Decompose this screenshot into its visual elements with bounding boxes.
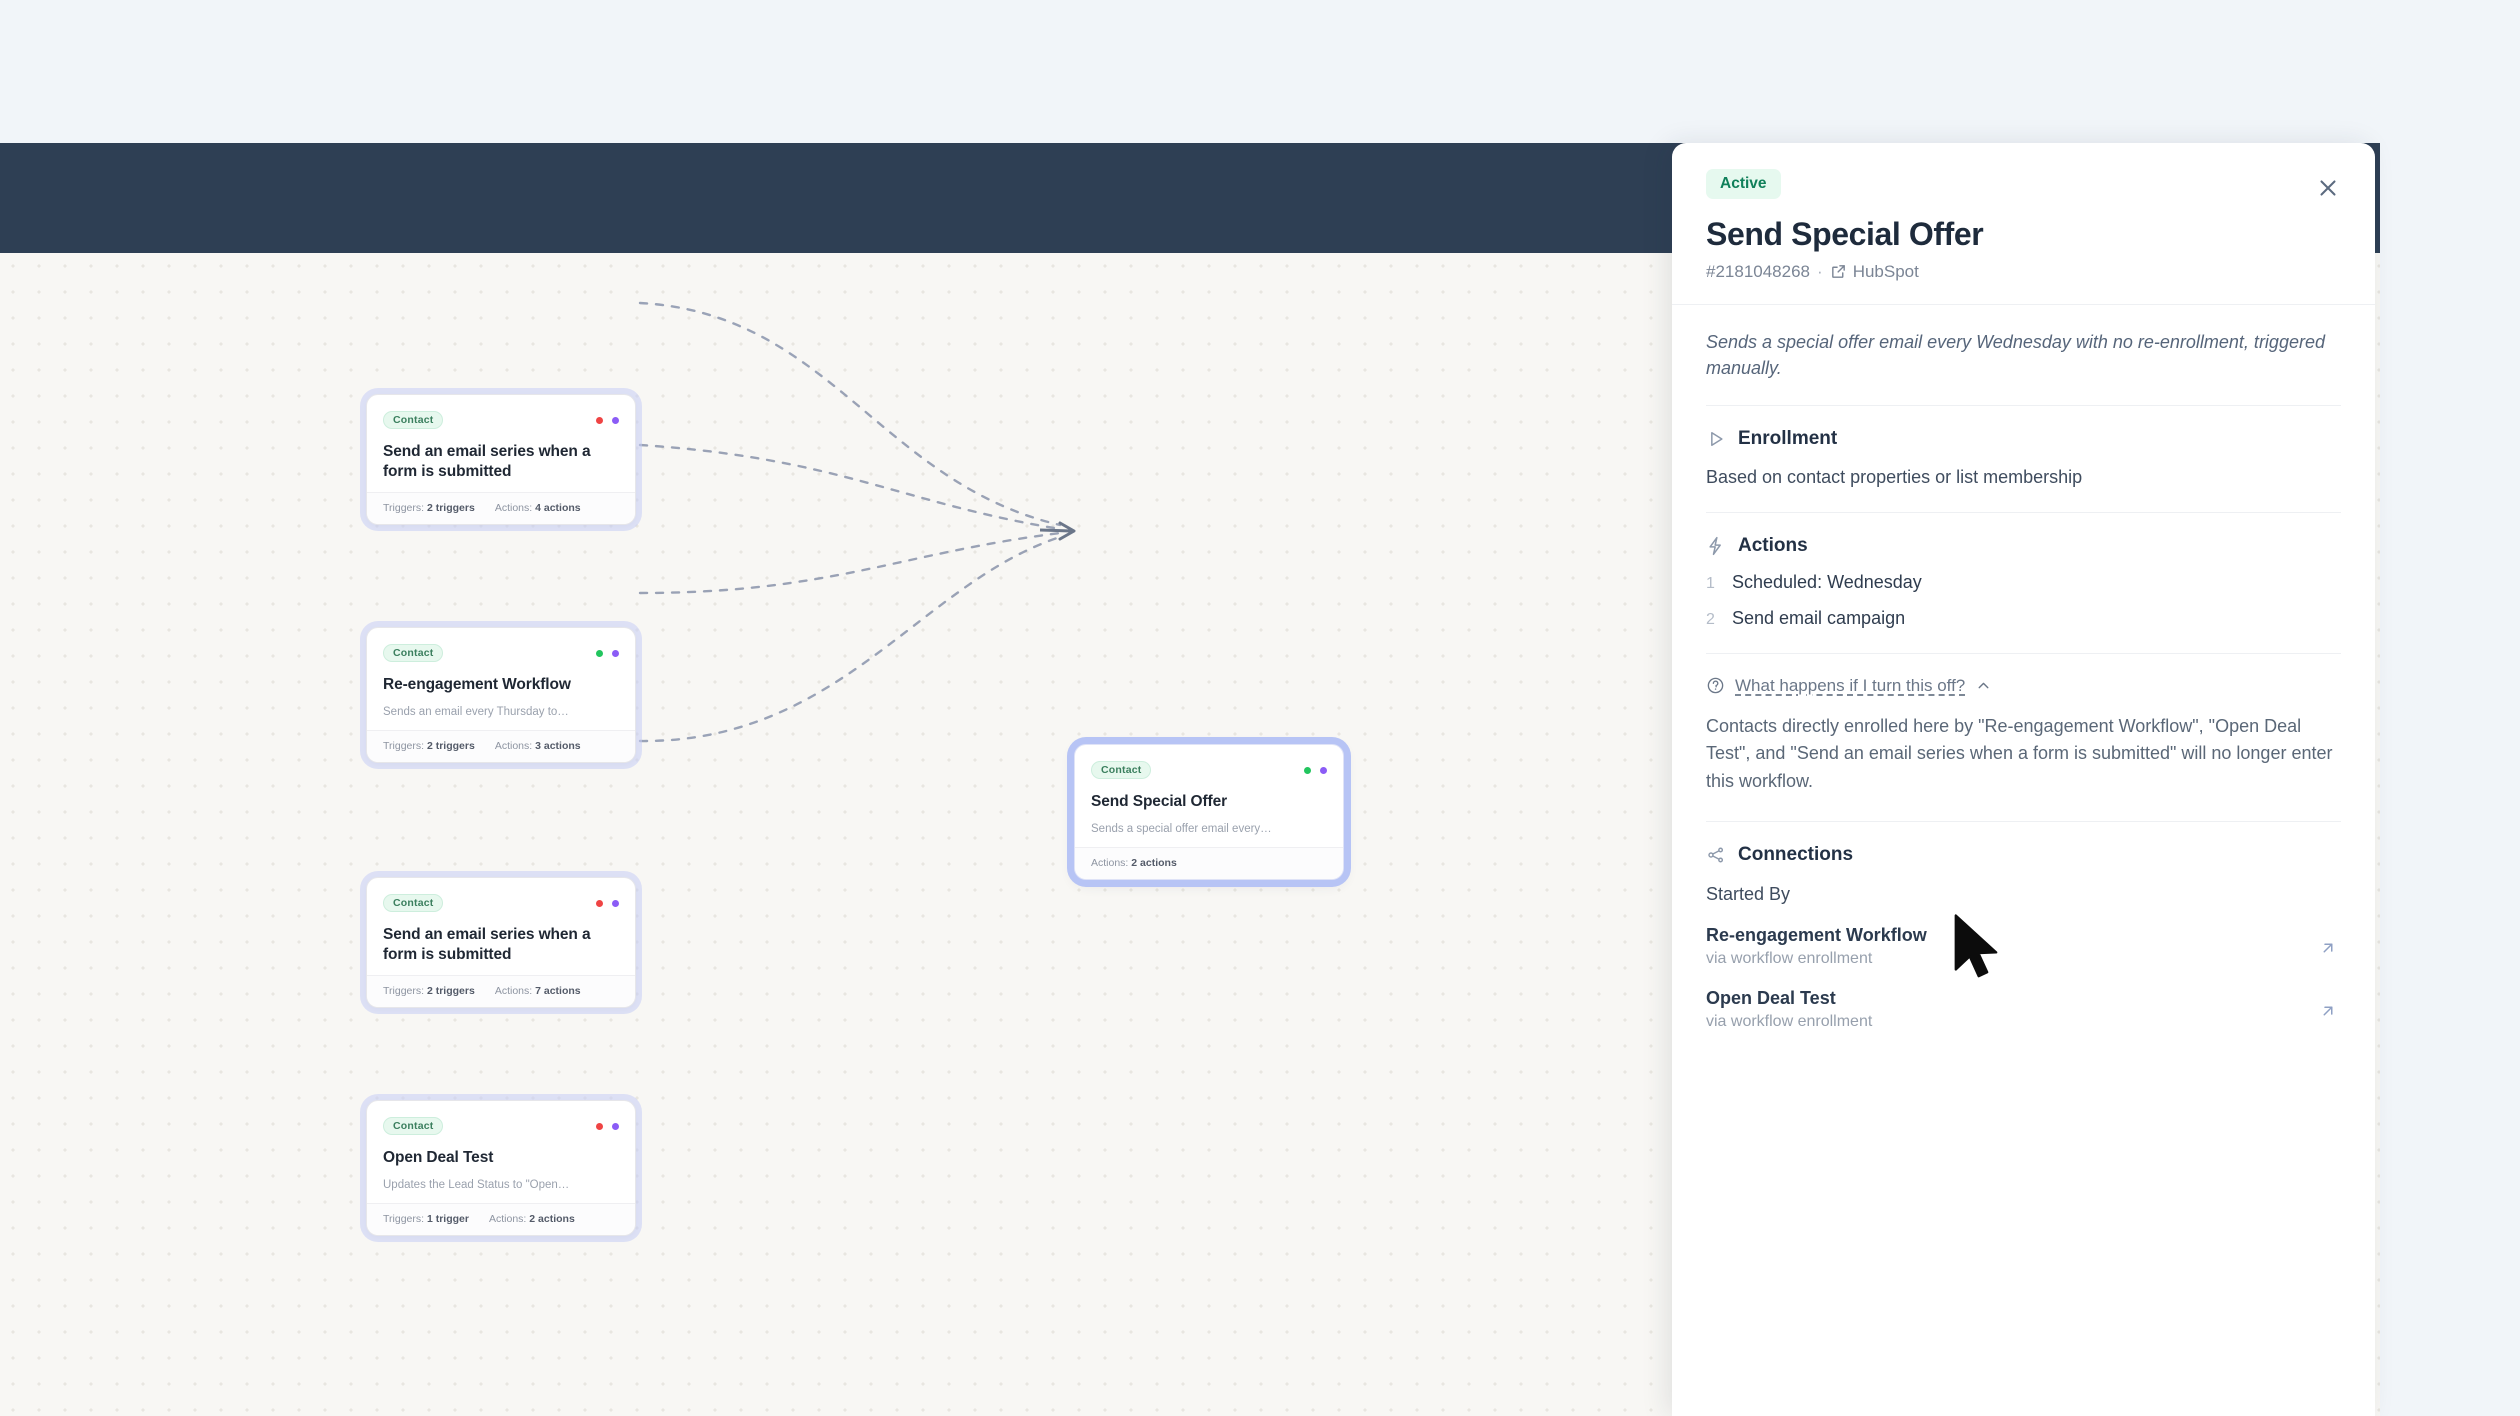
status-dot	[1304, 767, 1311, 774]
workflow-card[interactable]: Contact Open Deal Test Updates the Lead …	[366, 1100, 636, 1236]
card-top-row: Contact	[383, 642, 619, 664]
source-link[interactable]: HubSpot	[1830, 262, 1919, 282]
workflow-card[interactable]: Contact Send an email series when a form…	[366, 394, 636, 525]
workflow-card[interactable]: Contact Re-engagement Workflow Sends an …	[366, 627, 636, 763]
play-triangle-icon	[1706, 429, 1726, 449]
lightning-bolt-icon	[1706, 536, 1726, 556]
card-top-row: Contact	[383, 892, 619, 914]
card-triggers-value: 2 triggers	[427, 985, 475, 997]
connection-via: via workflow enrollment	[1706, 950, 2301, 968]
page-background-right	[2380, 143, 2520, 1416]
action-item: 2 Send email campaign	[1706, 608, 2341, 629]
close-icon[interactable]	[2311, 171, 2345, 205]
card-footer: Triggers: 2 triggers Actions: 7 actions	[367, 975, 635, 1007]
card-status-dots	[596, 1123, 619, 1130]
panel-body: Sends a special offer email every Wednes…	[1672, 305, 2375, 1031]
object-type-badge: Contact	[383, 1117, 443, 1135]
status-dot	[1320, 767, 1327, 774]
card-title: Open Deal Test	[383, 1148, 619, 1168]
card-status-dots	[1304, 767, 1327, 774]
workflow-detail-panel: Active Send Special Offer #2181048268 · …	[1672, 143, 2375, 1416]
enrollment-text: Based on contact properties or list memb…	[1706, 465, 2341, 490]
action-number: 2	[1706, 611, 1716, 629]
status-dot	[596, 650, 603, 657]
action-label: Scheduled: Wednesday	[1732, 572, 1922, 593]
spacer	[1706, 490, 2341, 512]
card-description: Sends a special offer email every…	[1091, 822, 1327, 837]
card-top-row: Contact	[383, 409, 619, 431]
card-description: Updates the Lead Status to "Open…	[383, 1178, 619, 1193]
started-by-label: Started By	[1706, 884, 2341, 905]
status-dot	[596, 900, 603, 907]
card-actions-label: Actions:	[495, 985, 532, 997]
enrollment-header: Enrollment	[1706, 428, 2341, 450]
status-dot	[612, 417, 619, 424]
help-circle-icon	[1706, 676, 1725, 695]
status-dot	[612, 1123, 619, 1130]
share-nodes-icon	[1706, 845, 1726, 865]
object-type-badge: Contact	[383, 411, 443, 429]
connections-section: Connections Started By Re-engagement Wor…	[1706, 822, 2341, 1031]
faq-section: What happens if I turn this off? Contact…	[1706, 654, 2341, 795]
card-actions-value: 2 actions	[529, 1213, 575, 1225]
workflow-card-selected[interactable]: Contact Send Special Offer Sends a speci…	[1074, 744, 1344, 880]
panel-subtitle: #2181048268 · HubSpot	[1706, 262, 2341, 282]
status-dot	[612, 650, 619, 657]
faq-answer: Contacts directly enrolled here by "Re-e…	[1706, 713, 2341, 795]
card-top-row: Contact	[1091, 759, 1327, 781]
enrollment-section: Enrollment Based on contact properties o…	[1706, 406, 2341, 490]
action-label: Send email campaign	[1732, 608, 1905, 629]
status-badge: Active	[1706, 169, 1781, 199]
page-title: Send Special Offer	[1706, 216, 2341, 253]
arrow-up-right-icon	[2319, 1002, 2337, 1025]
faq-question: What happens if I turn this off?	[1735, 676, 1965, 696]
card-triggers-value: 2 triggers	[427, 502, 475, 514]
app-root: Contact Send an email series when a form…	[0, 0, 2520, 1416]
card-actions-value: 7 actions	[535, 985, 581, 997]
connection-name: Open Deal Test	[1706, 988, 2301, 1009]
enrollment-title: Enrollment	[1738, 428, 1837, 450]
card-triggers-value: 1 trigger	[427, 1213, 469, 1225]
card-body: Contact Send an email series when a form…	[367, 395, 635, 492]
connection-item[interactable]: Open Deal Test via workflow enrollment	[1706, 988, 2341, 1031]
action-number: 1	[1706, 575, 1716, 593]
spacer	[1706, 629, 2341, 653]
actions-header: Actions	[1706, 535, 2341, 557]
connection-item[interactable]: Re-engagement Workflow via workflow enro…	[1706, 925, 2341, 968]
page-background-top	[0, 0, 2520, 143]
card-status-dots	[596, 650, 619, 657]
card-body: Contact Re-engagement Workflow Sends an …	[367, 628, 635, 730]
card-description: Sends an email every Thursday to…	[383, 705, 619, 720]
external-link-icon	[1830, 263, 1847, 280]
workflow-description: Sends a special offer email every Wednes…	[1706, 305, 2341, 405]
card-footer: Triggers: 2 triggers Actions: 3 actions	[367, 730, 635, 762]
card-actions-label: Actions:	[1091, 857, 1128, 869]
status-dot	[596, 1123, 603, 1130]
chevron-up-icon	[1975, 677, 1992, 694]
card-status-dots	[596, 900, 619, 907]
card-triggers-label: Triggers:	[383, 985, 424, 997]
card-footer: Triggers: 1 trigger Actions: 2 actions	[367, 1203, 635, 1235]
card-actions-label: Actions:	[489, 1213, 526, 1225]
connections-header: Connections	[1706, 844, 2341, 866]
card-body: Contact Send Special Offer Sends a speci…	[1075, 745, 1343, 847]
card-actions-value: 2 actions	[1131, 857, 1177, 869]
actions-section: Actions 1 Scheduled: Wednesday 2 Send em…	[1706, 513, 2341, 629]
subtitle-separator: ·	[1817, 262, 1823, 282]
source-label: HubSpot	[1853, 262, 1919, 282]
card-title: Send Special Offer	[1091, 792, 1327, 812]
card-status-dots	[596, 417, 619, 424]
card-title: Send an email series when a form is subm…	[383, 925, 619, 965]
arrow-up-right-icon	[2319, 939, 2337, 962]
card-footer: Actions: 2 actions	[1075, 847, 1343, 879]
card-actions-value: 4 actions	[535, 502, 581, 514]
connections-title: Connections	[1738, 844, 1853, 866]
panel-header: Active Send Special Offer #2181048268 · …	[1672, 143, 2375, 305]
faq-toggle[interactable]: What happens if I turn this off?	[1706, 676, 2341, 696]
object-type-badge: Contact	[1091, 761, 1151, 779]
spacer	[1706, 795, 2341, 821]
card-title: Re-engagement Workflow	[383, 675, 619, 695]
action-item: 1 Scheduled: Wednesday	[1706, 572, 2341, 593]
card-actions-value: 3 actions	[535, 740, 581, 752]
card-body: Contact Send an email series when a form…	[367, 878, 635, 975]
card-top-row: Contact	[383, 1115, 619, 1137]
object-type-badge: Contact	[383, 894, 443, 912]
connection-via: via workflow enrollment	[1706, 1013, 2301, 1031]
object-type-badge: Contact	[383, 644, 443, 662]
card-actions-label: Actions:	[495, 740, 532, 752]
workflow-id: #2181048268	[1706, 262, 1810, 282]
status-dot	[596, 417, 603, 424]
card-body: Contact Open Deal Test Updates the Lead …	[367, 1101, 635, 1203]
card-actions-label: Actions:	[495, 502, 532, 514]
card-footer: Triggers: 2 triggers Actions: 4 actions	[367, 492, 635, 524]
workflow-card[interactable]: Contact Send an email series when a form…	[366, 877, 636, 1008]
card-triggers-label: Triggers:	[383, 502, 424, 514]
card-triggers-label: Triggers:	[383, 1213, 424, 1225]
card-triggers-value: 2 triggers	[427, 740, 475, 752]
connection-name: Re-engagement Workflow	[1706, 925, 2301, 946]
status-dot	[612, 900, 619, 907]
actions-title: Actions	[1738, 535, 1808, 557]
card-title: Send an email series when a form is subm…	[383, 442, 619, 482]
card-triggers-label: Triggers:	[383, 740, 424, 752]
